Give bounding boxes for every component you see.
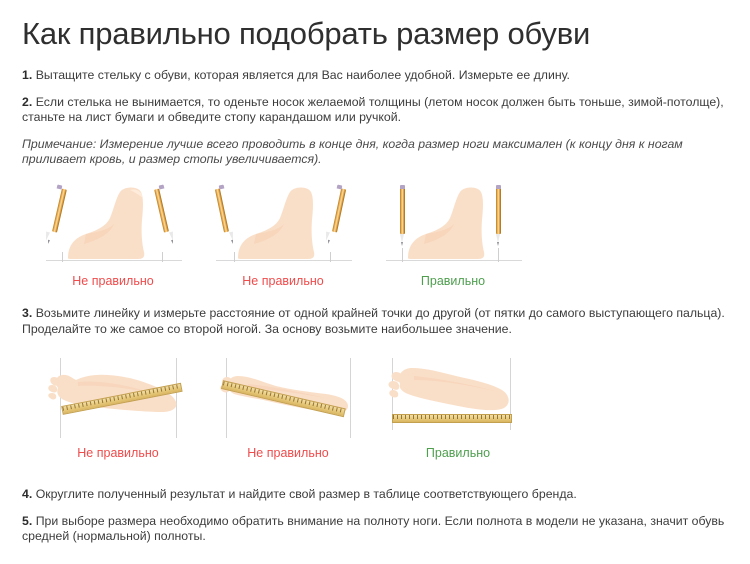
figure-caption: Правильно — [378, 274, 528, 288]
step-item-5: 5. При выборе размера необходимо обратит… — [22, 514, 728, 545]
step-text-1: Вытащите стельку с обуви, которая являет… — [36, 68, 570, 82]
figure-top-right: Правильно — [378, 358, 538, 458]
pencil-left-eraser — [400, 185, 405, 189]
measure-tick-right — [330, 252, 331, 262]
step-text-3: Возьмите линейку и измерьте расстояние о… — [22, 306, 725, 336]
step-item-1: 1. Вытащите стельку с обуви, которая явл… — [22, 68, 728, 84]
figure-top-wrong-2: Не правильно — [208, 358, 368, 458]
step-item-4: 4. Округлите полученный результат и найд… — [22, 487, 728, 503]
step-number-3: 3. — [22, 306, 32, 320]
measure-tick-right — [498, 248, 499, 262]
pencil-right-eraser — [337, 185, 343, 190]
step-item-3: 3. Возьмите линейку и измерьте расстояни… — [22, 306, 738, 337]
measure-tick-left — [62, 252, 63, 262]
measure-tick-left — [234, 252, 235, 262]
figure-side-wrong-2: Не правильно — [208, 186, 358, 286]
figures-row-top-view: Не правильно Не правильно — [0, 358, 750, 458]
figure-caption: Не правильно — [38, 446, 198, 460]
pencil-right-lead — [497, 242, 499, 246]
pencil-left-eraser — [57, 184, 63, 189]
step-number-4: 4. — [22, 487, 32, 501]
figure-caption: Не правильно — [208, 446, 368, 460]
pencil-right-shaft — [496, 188, 501, 234]
ground-line — [216, 260, 352, 261]
page-title: Как правильно подобрать размер обуви — [22, 16, 590, 52]
step-number-5: 5. — [22, 514, 32, 528]
figures-row-side-view: Не правильно Не правильно — [0, 186, 750, 286]
ground-line — [386, 260, 522, 261]
step-text-2: Если стелька не вынимается, то оденьте н… — [22, 95, 724, 125]
ruler-horizontal — [392, 414, 512, 423]
figure-top-wrong-1: Не правильно — [38, 358, 198, 458]
step-text-5: При выборе размера необходимо обратить в… — [22, 514, 724, 544]
figure-caption: Не правильно — [38, 274, 188, 288]
step-item-2: 2. Если стелька не вынимается, то оденьт… — [22, 95, 728, 126]
pencil-right-eraser — [496, 185, 501, 189]
figure-side-right: Правильно — [378, 186, 528, 286]
steps-top-section: 1. Вытащите стельку с обуви, которая явл… — [22, 68, 728, 168]
figure-caption: Правильно — [378, 446, 538, 460]
step-text-4: Округлите полученный результат и найдите… — [36, 487, 577, 501]
step-number-2: 2. — [22, 95, 32, 109]
figure-caption: Не правильно — [208, 274, 358, 288]
steps-bottom-section: 4. Округлите полученный результат и найд… — [22, 487, 728, 556]
figure-side-wrong-1: Не правильно — [38, 186, 188, 286]
measure-tick-right — [162, 252, 163, 262]
measure-tick-left — [402, 248, 403, 262]
pencil-left-shaft — [400, 188, 405, 234]
ruler-ticks — [393, 415, 511, 422]
step-number-1: 1. — [22, 68, 32, 82]
note-text: Примечание: Измерение лучше всего провод… — [22, 137, 728, 168]
step-3-section: 3. Возьмите линейку и измерьте расстояни… — [22, 306, 738, 348]
pencil-left-lead — [401, 242, 403, 246]
shoe-size-guide-page: Как правильно подобрать размер обуви 1. … — [0, 0, 750, 564]
